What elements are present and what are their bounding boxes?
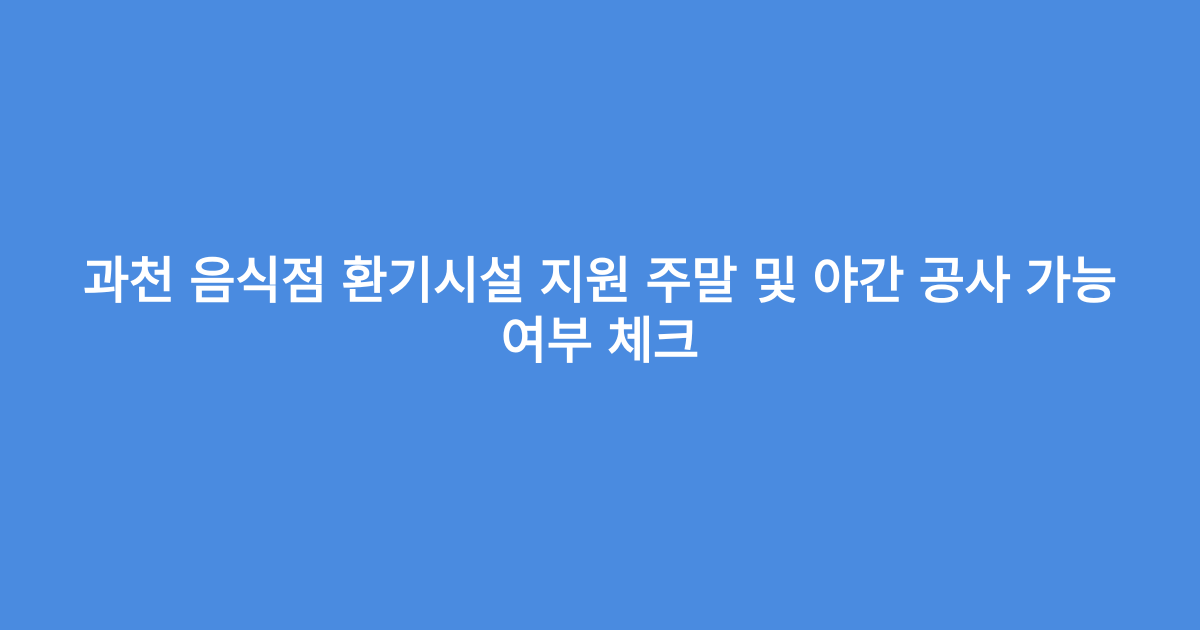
banner-card: 과천 음식점 환기시설 지원 주말 및 야간 공사 가능 여부 체크 bbox=[0, 0, 1200, 630]
headline-block: 과천 음식점 환기시설 지원 주말 및 야간 공사 가능 여부 체크 bbox=[55, 251, 1145, 371]
page-title: 과천 음식점 환기시설 지원 주말 및 야간 공사 가능 여부 체크 bbox=[55, 251, 1145, 371]
